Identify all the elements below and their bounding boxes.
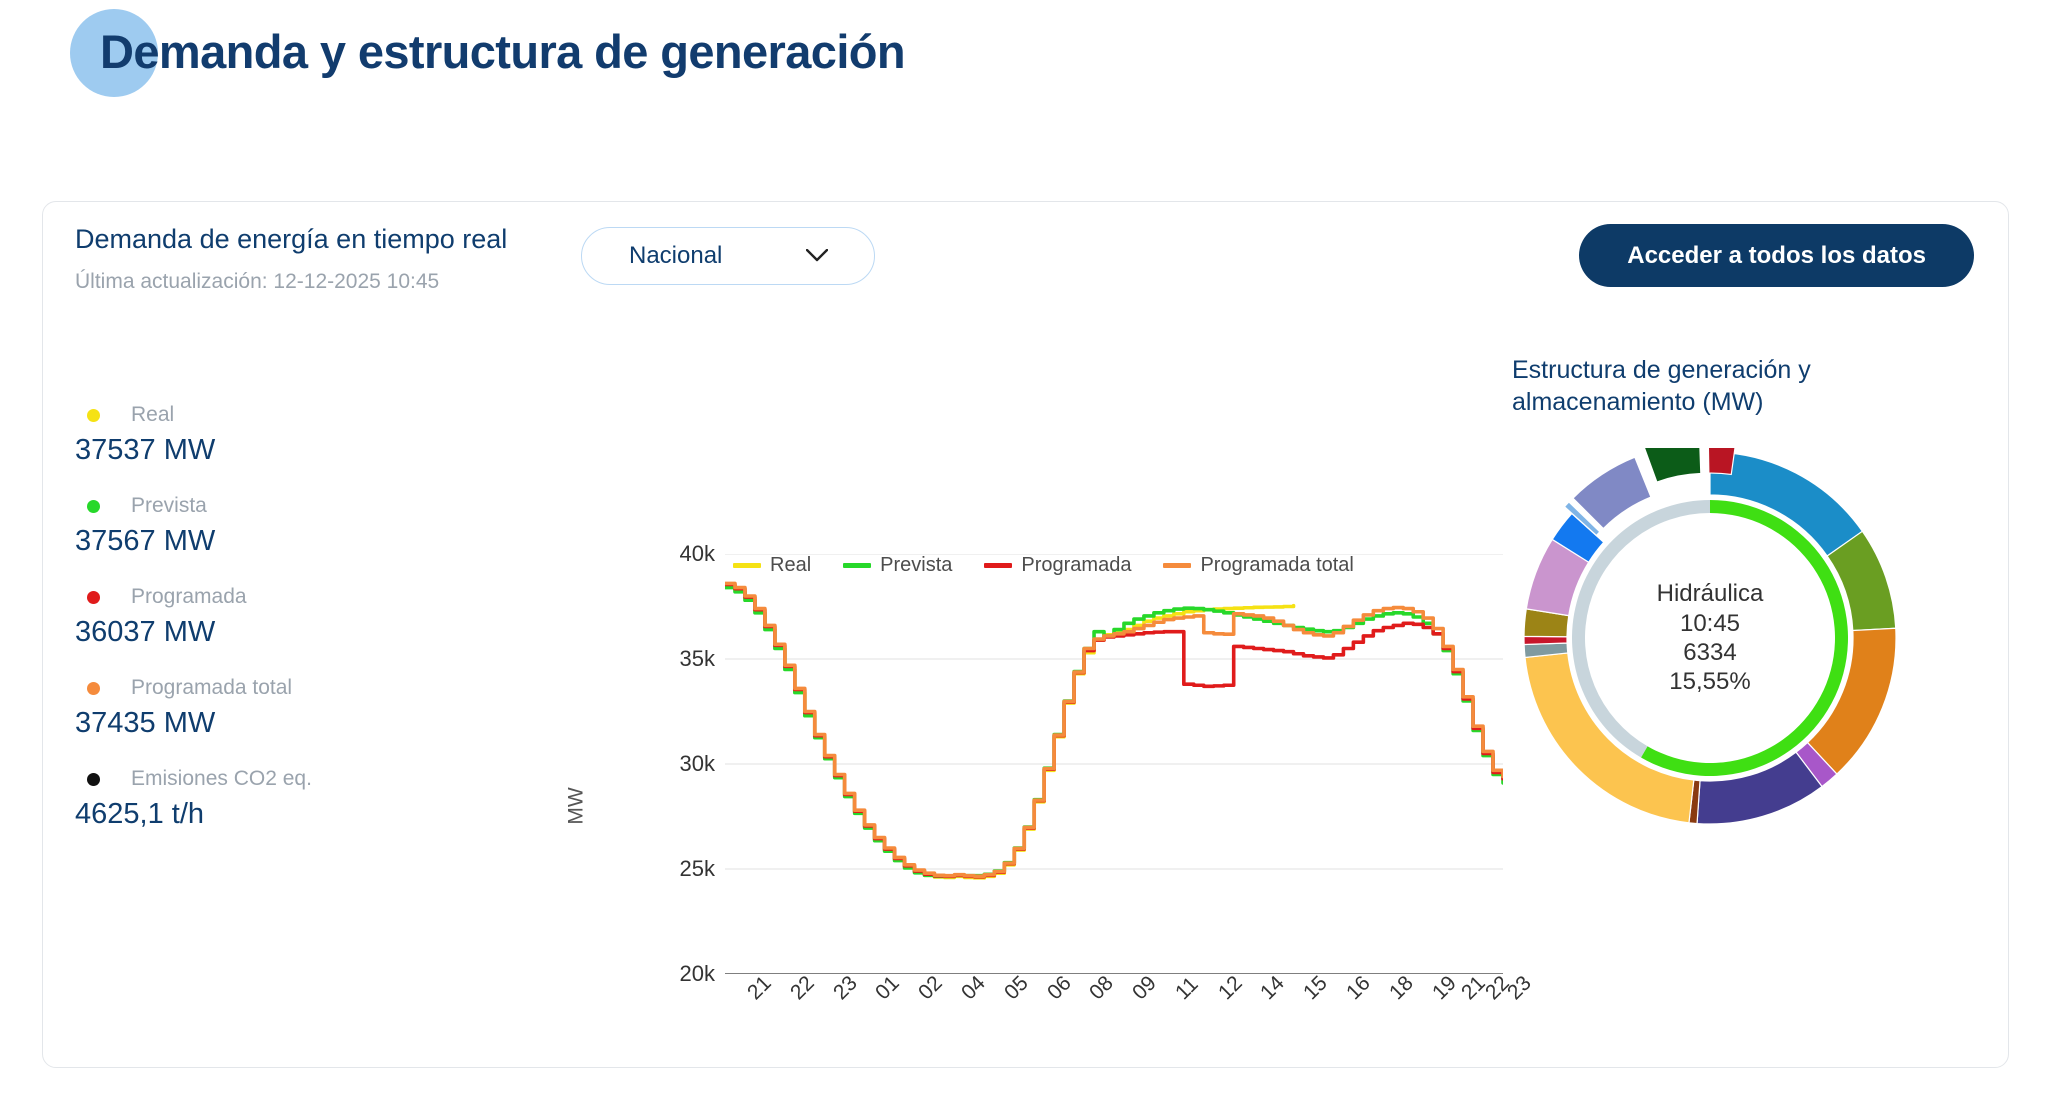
generation-structure-panel: Estructura de generación y almacenamient… [1512,354,1962,828]
demand-card: Demanda de energía en tiempo real Última… [42,201,2009,1068]
kpi-prevista: Prevista 37567 MW [75,493,435,558]
scope-select[interactable]: Nacional [581,227,875,285]
card-heading: Demanda de energía en tiempo real [75,224,507,255]
page-title: Demanda y estructura de generación [100,24,905,79]
donut-svg [1520,448,1900,828]
legend-dot-icon [87,409,100,422]
kpi-list: Real 37537 MW Prevista 37567 MW Programa… [75,402,435,857]
last-update-text: Última actualización: 12-12-2025 10:45 [75,270,439,294]
kpi-value: 37537 MW [75,434,435,467]
kpi-label: Real [131,403,174,427]
x-axis-tick-label: 02 [914,971,947,1004]
x-axis-ticks: 2122230102040506080911121415161819212223 [725,972,1503,1052]
generation-donut-chart[interactable]: Hidráulica 10:45 6334 15,55% [1520,448,1900,828]
donut-segment-solar-fotovoltaica[interactable] [1525,653,1694,823]
donut-segment-otras-renovables[interactable] [1524,636,1567,644]
kpi-value: 37435 MW [75,707,435,740]
x-axis-tick-label: 08 [1085,971,1118,1004]
acceder-datos-button[interactable]: Acceder a todos los datos [1579,224,1974,287]
y-axis-tick-label: 20k [603,961,715,987]
kpi-programada-total: Programada total 37435 MW [75,675,435,740]
kpi-value: 4625,1 t/h [75,798,435,831]
page-header: Demanda y estructura de generación [70,6,905,96]
y-axis-tick-label: 35k [603,646,715,672]
x-axis-tick-label: 12 [1214,971,1247,1004]
legend-dot-icon [87,773,100,786]
kpi-label: Programada total [131,676,292,700]
x-axis-tick-label: 14 [1256,971,1289,1004]
x-axis-tick-label: 18 [1385,971,1418,1004]
x-axis-tick-label: 21 [743,971,776,1004]
chart-plot-area [725,554,1503,974]
legend-dot-icon [87,682,100,695]
chart-svg [725,554,1503,974]
chart-series-line [725,586,1294,878]
x-axis-tick-label: 16 [1342,971,1375,1004]
kpi-real: Real 37537 MW [75,402,435,467]
kpi-label: Emisiones CO2 eq. [131,767,312,791]
y-axis-tick-label: 40k [603,541,715,567]
chart-series-line [725,588,1503,877]
kpi-emisiones-co2: Emisiones CO2 eq. 4625,1 t/h [75,766,435,831]
x-axis-tick-label: 05 [1000,971,1033,1004]
donut-segment-fuel-gas[interactable] [1642,448,1701,482]
legend-dot-icon [87,591,100,604]
kpi-programada: Programada 36037 MW [75,584,435,649]
kpi-value: 36037 MW [75,616,435,649]
generation-structure-title: Estructura de generación y almacenamient… [1512,354,1842,418]
x-axis-tick-label: 19 [1428,971,1461,1004]
x-axis-tick-label: 11 [1171,973,1203,1005]
y-axis-label: MW [565,787,589,824]
kpi-label: Programada [131,585,247,609]
y-axis-tick-label: 30k [603,751,715,777]
x-axis-tick-label: 23 [829,971,862,1004]
x-axis-tick-label: 22 [786,971,819,1004]
chevron-down-icon [806,245,828,267]
kpi-value: 37567 MW [75,525,435,558]
x-axis-tick-label: 09 [1128,971,1161,1004]
x-axis-tick-label: 06 [1043,971,1076,1004]
x-axis-tick-label: 15 [1299,971,1332,1004]
x-axis-tick-label: 04 [957,971,990,1004]
y-axis-tick-label: 25k [603,856,715,882]
x-axis-tick-label: 01 [871,971,904,1004]
x-axis-tick-label: 23 [1503,971,1536,1004]
demand-line-chart: RealPrevistaProgramadaProgramada total M… [603,554,1503,1074]
kpi-label: Prevista [131,494,207,518]
app-root: Demanda y estructura de generación Deman… [0,0,2048,1093]
legend-dot-icon [87,500,100,513]
scope-select-value: Nacional [629,242,722,270]
